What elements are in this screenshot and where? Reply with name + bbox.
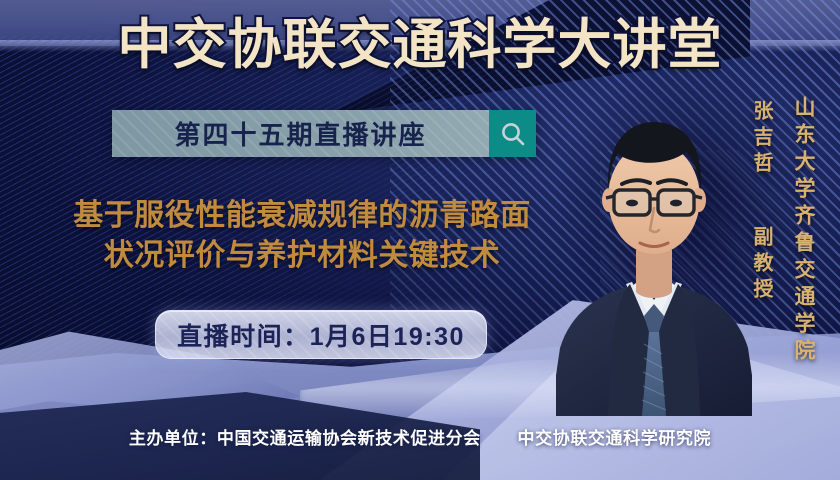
lecture-title-line2: 状况评价与养护材料关键技术 [22, 236, 582, 276]
series-bar: 第四十五期直播讲座 [112, 110, 536, 157]
lecture-title-line1: 基于服役性能衰减规律的沥青路面 [73, 199, 531, 232]
series-label: 第四十五期直播讲座 [112, 110, 489, 157]
webinar-poster: 中交协联交通科学大讲堂 第四十五期直播讲座 基于服役性能衰减规律的沥青路面 状况… [0, 0, 840, 480]
broadcast-time-badge: 直播时间：1月6日19:30 [155, 310, 487, 359]
search-icon[interactable] [489, 110, 536, 157]
speaker-name: 张吉哲 [747, 100, 776, 178]
page-title: 中交协联交通科学大讲堂 [0, 18, 840, 72]
speaker-organization: 山东大学齐鲁交通学院 [788, 96, 818, 366]
speaker-photo [556, 86, 752, 416]
footer-organizers: 主办单位：中国交通运输协会新技术促进分会 中交协联交通科学研究院 [0, 424, 840, 449]
speaker-role: 副教授 [747, 226, 776, 304]
lecture-title: 基于服役性能衰减规律的沥青路面 状况评价与养护材料关键技术 [22, 196, 582, 275]
footer-host: 主办单位：中国交通运输协会新技术促进分会 [129, 429, 481, 448]
footer-institute: 中交协联交通科学研究院 [518, 429, 712, 448]
